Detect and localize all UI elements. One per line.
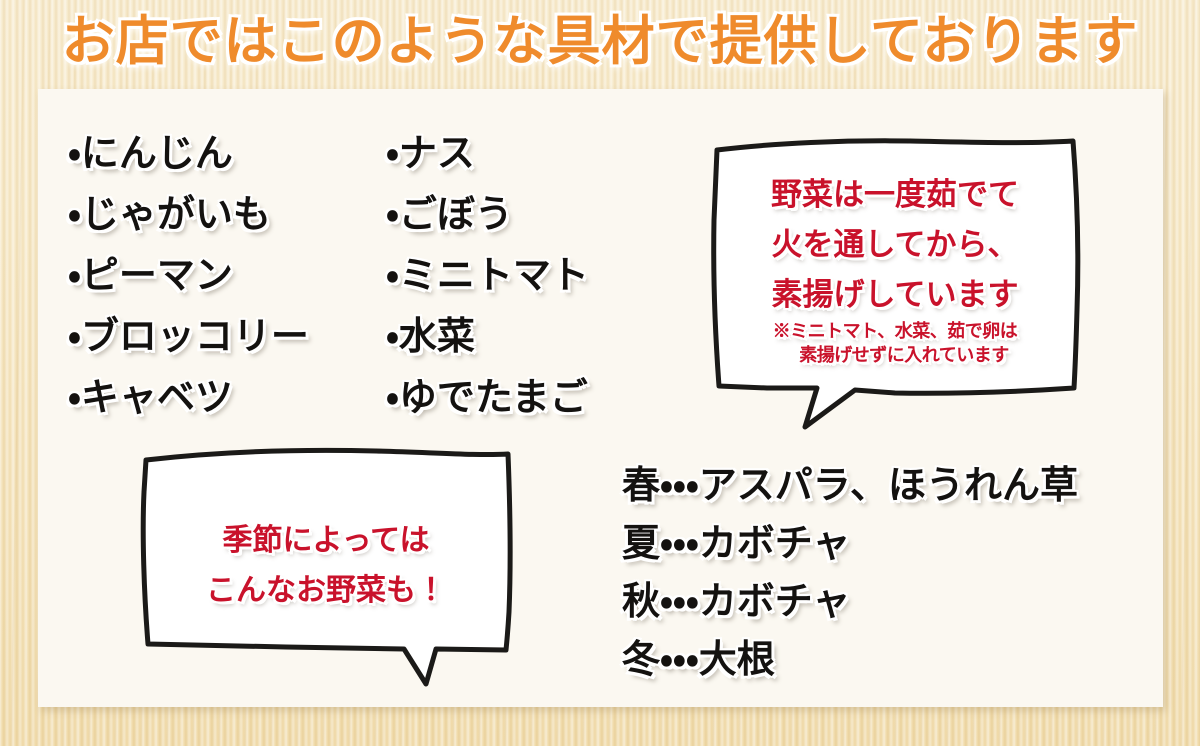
list-item: ・ブロッコリー — [68, 305, 309, 366]
list-item: ・じゃがいも — [68, 183, 309, 244]
list-item: ・にんじん — [68, 122, 309, 183]
bubble-line: 季節によっては — [136, 516, 516, 566]
poster-stage: お店ではこのような具材で提供しております ・にんじん ・じゃがいも ・ピーマン … — [0, 0, 1200, 746]
list-item: ・ミニトマト — [386, 244, 589, 305]
page-title: お店ではこのような具材で提供しております — [0, 8, 1200, 74]
bubble-season-main-text: 季節によっては こんなお野菜も！ — [136, 516, 516, 616]
seasonal-vegetable-list: 春・・・アスパラ、ほうれん草 夏・・・カボチャ 秋・・・カボチャ 冬・・・大根 — [622, 456, 1078, 688]
bubble-line: 野菜は一度茹でて — [705, 170, 1085, 220]
bubble-cooking-main-text: 野菜は一度茹でて 火を通してから、 素揚げしています — [705, 170, 1085, 320]
speech-bubble-seasonal-intro: 季節によっては こんなお野菜も！ — [136, 444, 536, 704]
list-item: ・キャベツ — [68, 366, 309, 427]
bubble-line: こんなお野菜も！ — [136, 566, 516, 616]
ingredient-column-left: ・にんじん ・じゃがいも ・ピーマン ・ブロッコリー ・キャベツ — [68, 122, 309, 427]
speech-bubble-cooking-method: 野菜は一度茹でて 火を通してから、 素揚げしています ※ミニトマト、水菜、茹で卵… — [705, 132, 1085, 432]
list-item: 冬・・・大根 — [622, 630, 1078, 688]
bubble-cooking-note-text: ※ミニトマト、水菜、茹で卵は 素揚げせずに入れています — [705, 320, 1085, 368]
list-item: ・ピーマン — [68, 244, 309, 305]
list-item: 秋・・・カボチャ — [622, 572, 1078, 630]
note-line: ※ミニトマト、水菜、茹で卵は — [705, 320, 1085, 344]
bubble-line: 素揚げしています — [705, 270, 1085, 320]
ingredient-column-right: ・ナス ・ごぼう ・ミニトマト ・水菜 ・ゆでたまご — [386, 122, 589, 427]
list-item: ・ナス — [386, 122, 589, 183]
list-item: ・水菜 — [386, 305, 589, 366]
list-item: ・ごぼう — [386, 183, 589, 244]
list-item: 春・・・アスパラ、ほうれん草 — [622, 456, 1078, 514]
note-line: 素揚げせずに入れています — [705, 344, 1085, 368]
list-item: ・ゆでたまご — [386, 366, 589, 427]
bubble-line: 火を通してから、 — [705, 220, 1085, 270]
list-item: 夏・・・カボチャ — [622, 514, 1078, 572]
